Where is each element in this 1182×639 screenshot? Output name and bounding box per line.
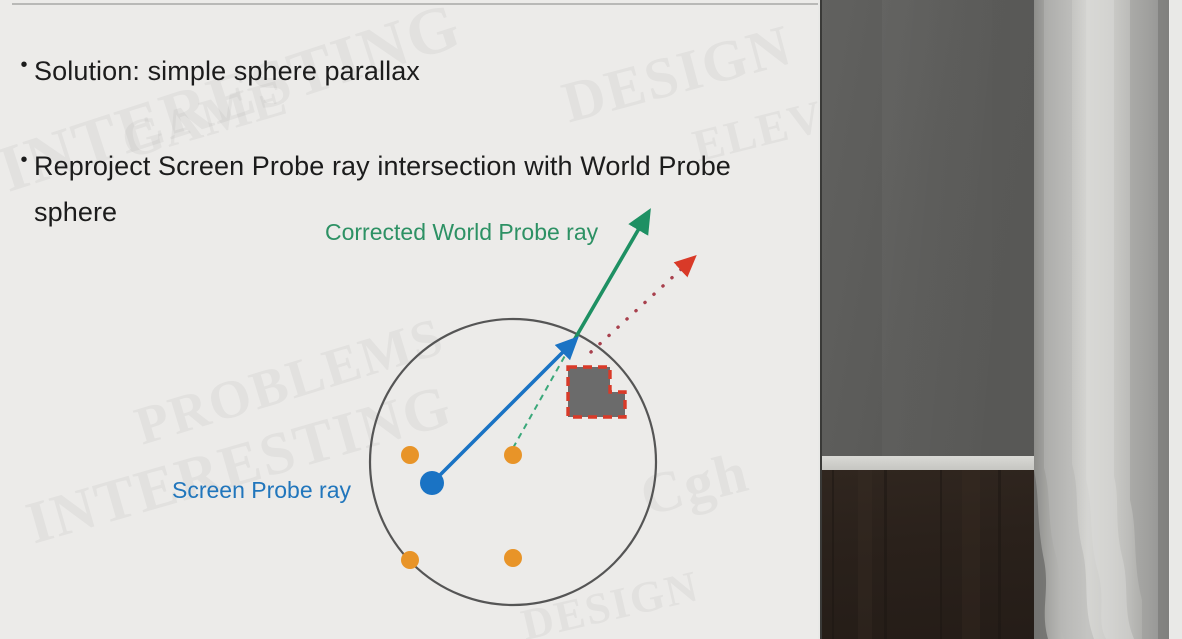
presentation-screen: INTERESTING GAME DESIGN ELEVATES INTERES… (0, 0, 1182, 639)
parallax-diagram (0, 0, 818, 639)
slide-panel: INTERESTING GAME DESIGN ELEVATES INTERES… (0, 0, 818, 639)
wall-highlight (882, 0, 992, 470)
world-probe-to-intersection-line (513, 345, 571, 448)
room-wall (822, 0, 1054, 470)
screen-probe-origin-dot (420, 471, 444, 495)
video-frame (820, 0, 1170, 639)
webcam-video-panel (818, 0, 1182, 639)
video-right-border (1169, 0, 1170, 639)
world-probe-dot (504, 549, 522, 567)
uncorrected-ray (591, 263, 688, 352)
world-probe-dot (504, 446, 522, 464)
world-probe-dot (401, 551, 419, 569)
screen-probe-ray (432, 345, 570, 483)
world-probe-dot (401, 446, 419, 464)
curtain-folds (1034, 0, 1169, 639)
screen-probe-ray-label: Screen Probe ray (172, 477, 351, 504)
occluder-shape (568, 367, 625, 417)
corrected-world-probe-ray-label: Corrected World Probe ray (325, 219, 598, 246)
